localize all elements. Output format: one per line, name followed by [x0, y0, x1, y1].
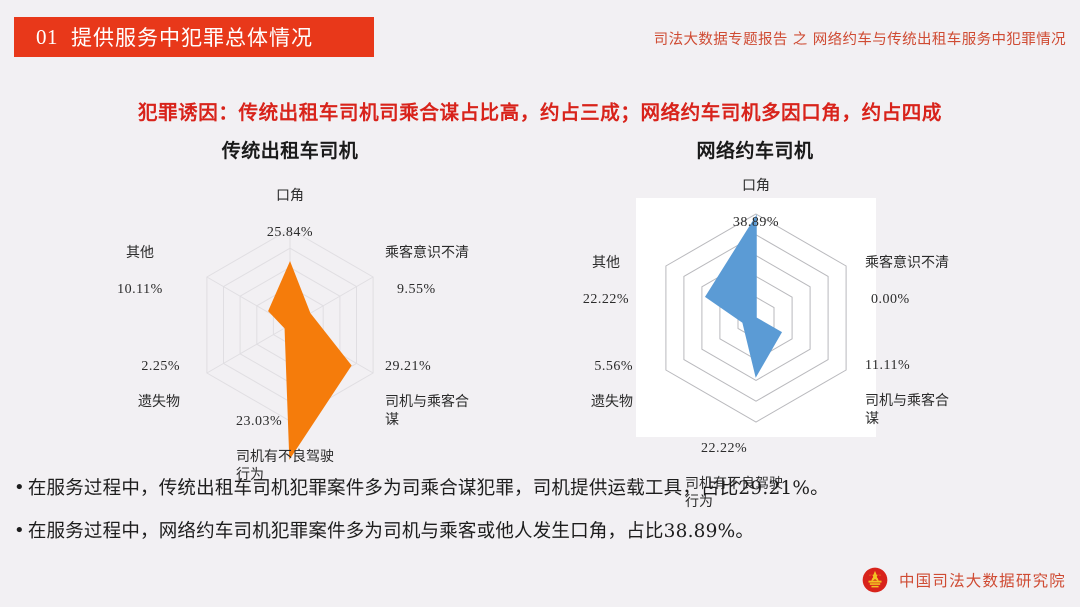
section-title-badge: 01 提供服务中犯罪总体情况	[14, 17, 374, 57]
axis-label-bottom-pct-ridehailing: 22.22%	[685, 440, 845, 458]
axis-label-lower-left-pct-ridehailing: 5.56%	[545, 358, 633, 376]
axis-label-upper-right-pct-ridehailing: 0.00%	[865, 291, 1000, 309]
axis-label-top-name-traditional: 口角	[255, 188, 325, 206]
axis-label-upper-left-name-traditional: 其他	[90, 245, 190, 263]
bullet-item-ridehailing: • 在服务过程中，网络约车司机犯罪案件多为司机与乘客或他人发生口角，占比38.8…	[14, 520, 1064, 543]
bullet-text-ridehailing: 在服务过程中，网络约车司机犯罪案件多为司机与乘客或他人发生口角，占比38.89%…	[28, 520, 754, 543]
slide: 01 提供服务中犯罪总体情况 司法大数据专题报告 之 网络约车与传统出租车服务中…	[0, 0, 1080, 607]
radar-chart-traditional-taxi: 传统出租车司机	[60, 132, 520, 477]
axis-label-lower-left-pct-traditional: 2.25%	[70, 358, 180, 376]
radar-plot-area-traditional: 口角 25.84% 乘客意识不清 9.55% 29.21% 司机与乘客合 谋 2…	[60, 132, 520, 477]
bullet-text-traditional: 在服务过程中，传统出租车司机犯罪案件多为司乘合谋犯罪，司机提供运载工具，占比29…	[28, 477, 829, 500]
axis-label-upper-left-name-ridehailing: 其他	[561, 255, 651, 273]
axis-label-lower-left-name-traditional: 遗失物	[70, 394, 180, 412]
slide-subtitle: 犯罪诱因：传统出租车司机司乘合谋占比高，约占三成；网络约车司机多因口角，约占四成	[0, 96, 1080, 125]
axis-label-top-traditional: 口角 25.84%	[255, 170, 325, 260]
axis-label-upper-left-pct-traditional: 10.11%	[90, 281, 190, 299]
china-emblem-icon	[862, 567, 888, 593]
axis-label-lower-right-name-ridehailing: 司机与乘客合 谋	[865, 393, 1000, 429]
axis-label-top-pct-traditional: 25.84%	[255, 224, 325, 242]
axis-label-lower-right-traditional: 29.21% 司机与乘客合 谋	[385, 340, 510, 447]
axis-label-top-ridehailing: 口角 38.89%	[721, 160, 791, 250]
axis-label-upper-right-name-traditional: 乘客意识不清	[385, 245, 510, 263]
axis-label-upper-right-ridehailing: 乘客意识不清 0.00%	[865, 237, 1000, 327]
axis-label-top-name-ridehailing: 口角	[721, 178, 791, 196]
footer-branding: 中国司法大数据研究院	[862, 567, 1066, 593]
bullet-item-traditional: • 在服务过程中，传统出租车司机犯罪案件多为司乘合谋犯罪，司机提供运载工具，占比…	[14, 477, 1064, 500]
axis-label-lower-left-traditional: 2.25% 遗失物	[70, 340, 180, 430]
axis-label-lower-right-pct-traditional: 29.21%	[385, 358, 510, 376]
axis-label-upper-right-pct-traditional: 9.55%	[385, 281, 510, 299]
bullet-marker-icon: •	[14, 477, 25, 500]
summary-bullet-list: • 在服务过程中，传统出租车司机犯罪案件多为司乘合谋犯罪，司机提供运载工具，占比…	[14, 477, 1064, 563]
footer-organization-name: 中国司法大数据研究院	[899, 569, 1066, 591]
radar-plot-area-ridehailing: 口角 38.89% 乘客意识不清 0.00% 11.11% 司机与乘客合 谋 2…	[545, 132, 1045, 477]
section-title-text: 提供服务中犯罪总体情况	[71, 22, 313, 52]
axis-label-bottom-pct-traditional: 23.03%	[220, 413, 365, 431]
report-breadcrumb: 司法大数据专题报告 之 网络约车与传统出租车服务中犯罪情况	[654, 28, 1066, 49]
axis-label-upper-right-name-ridehailing: 乘客意识不清	[865, 255, 1000, 273]
axis-label-lower-right-ridehailing: 11.11% 司机与乘客合 谋	[865, 339, 1000, 446]
bullet-marker-icon: •	[14, 520, 25, 543]
axis-label-upper-left-ridehailing: 其他 22.22%	[561, 237, 651, 327]
section-number: 01	[36, 25, 58, 50]
axis-label-upper-left-traditional: 其他 10.11%	[90, 227, 190, 317]
axis-label-top-pct-ridehailing: 38.89%	[721, 214, 791, 232]
axis-label-lower-right-name-traditional: 司机与乘客合 谋	[385, 394, 510, 430]
axis-label-upper-right-traditional: 乘客意识不清 9.55%	[385, 227, 510, 317]
axis-label-lower-right-pct-ridehailing: 11.11%	[865, 357, 1000, 375]
axis-label-lower-left-name-ridehailing: 遗失物	[545, 394, 633, 412]
axis-label-upper-left-pct-ridehailing: 22.22%	[561, 291, 651, 309]
radar-chart-ridehailing: 网络约车司机 口角 38.89%	[545, 132, 1045, 477]
axis-label-lower-left-ridehailing: 5.56% 遗失物	[545, 340, 633, 430]
